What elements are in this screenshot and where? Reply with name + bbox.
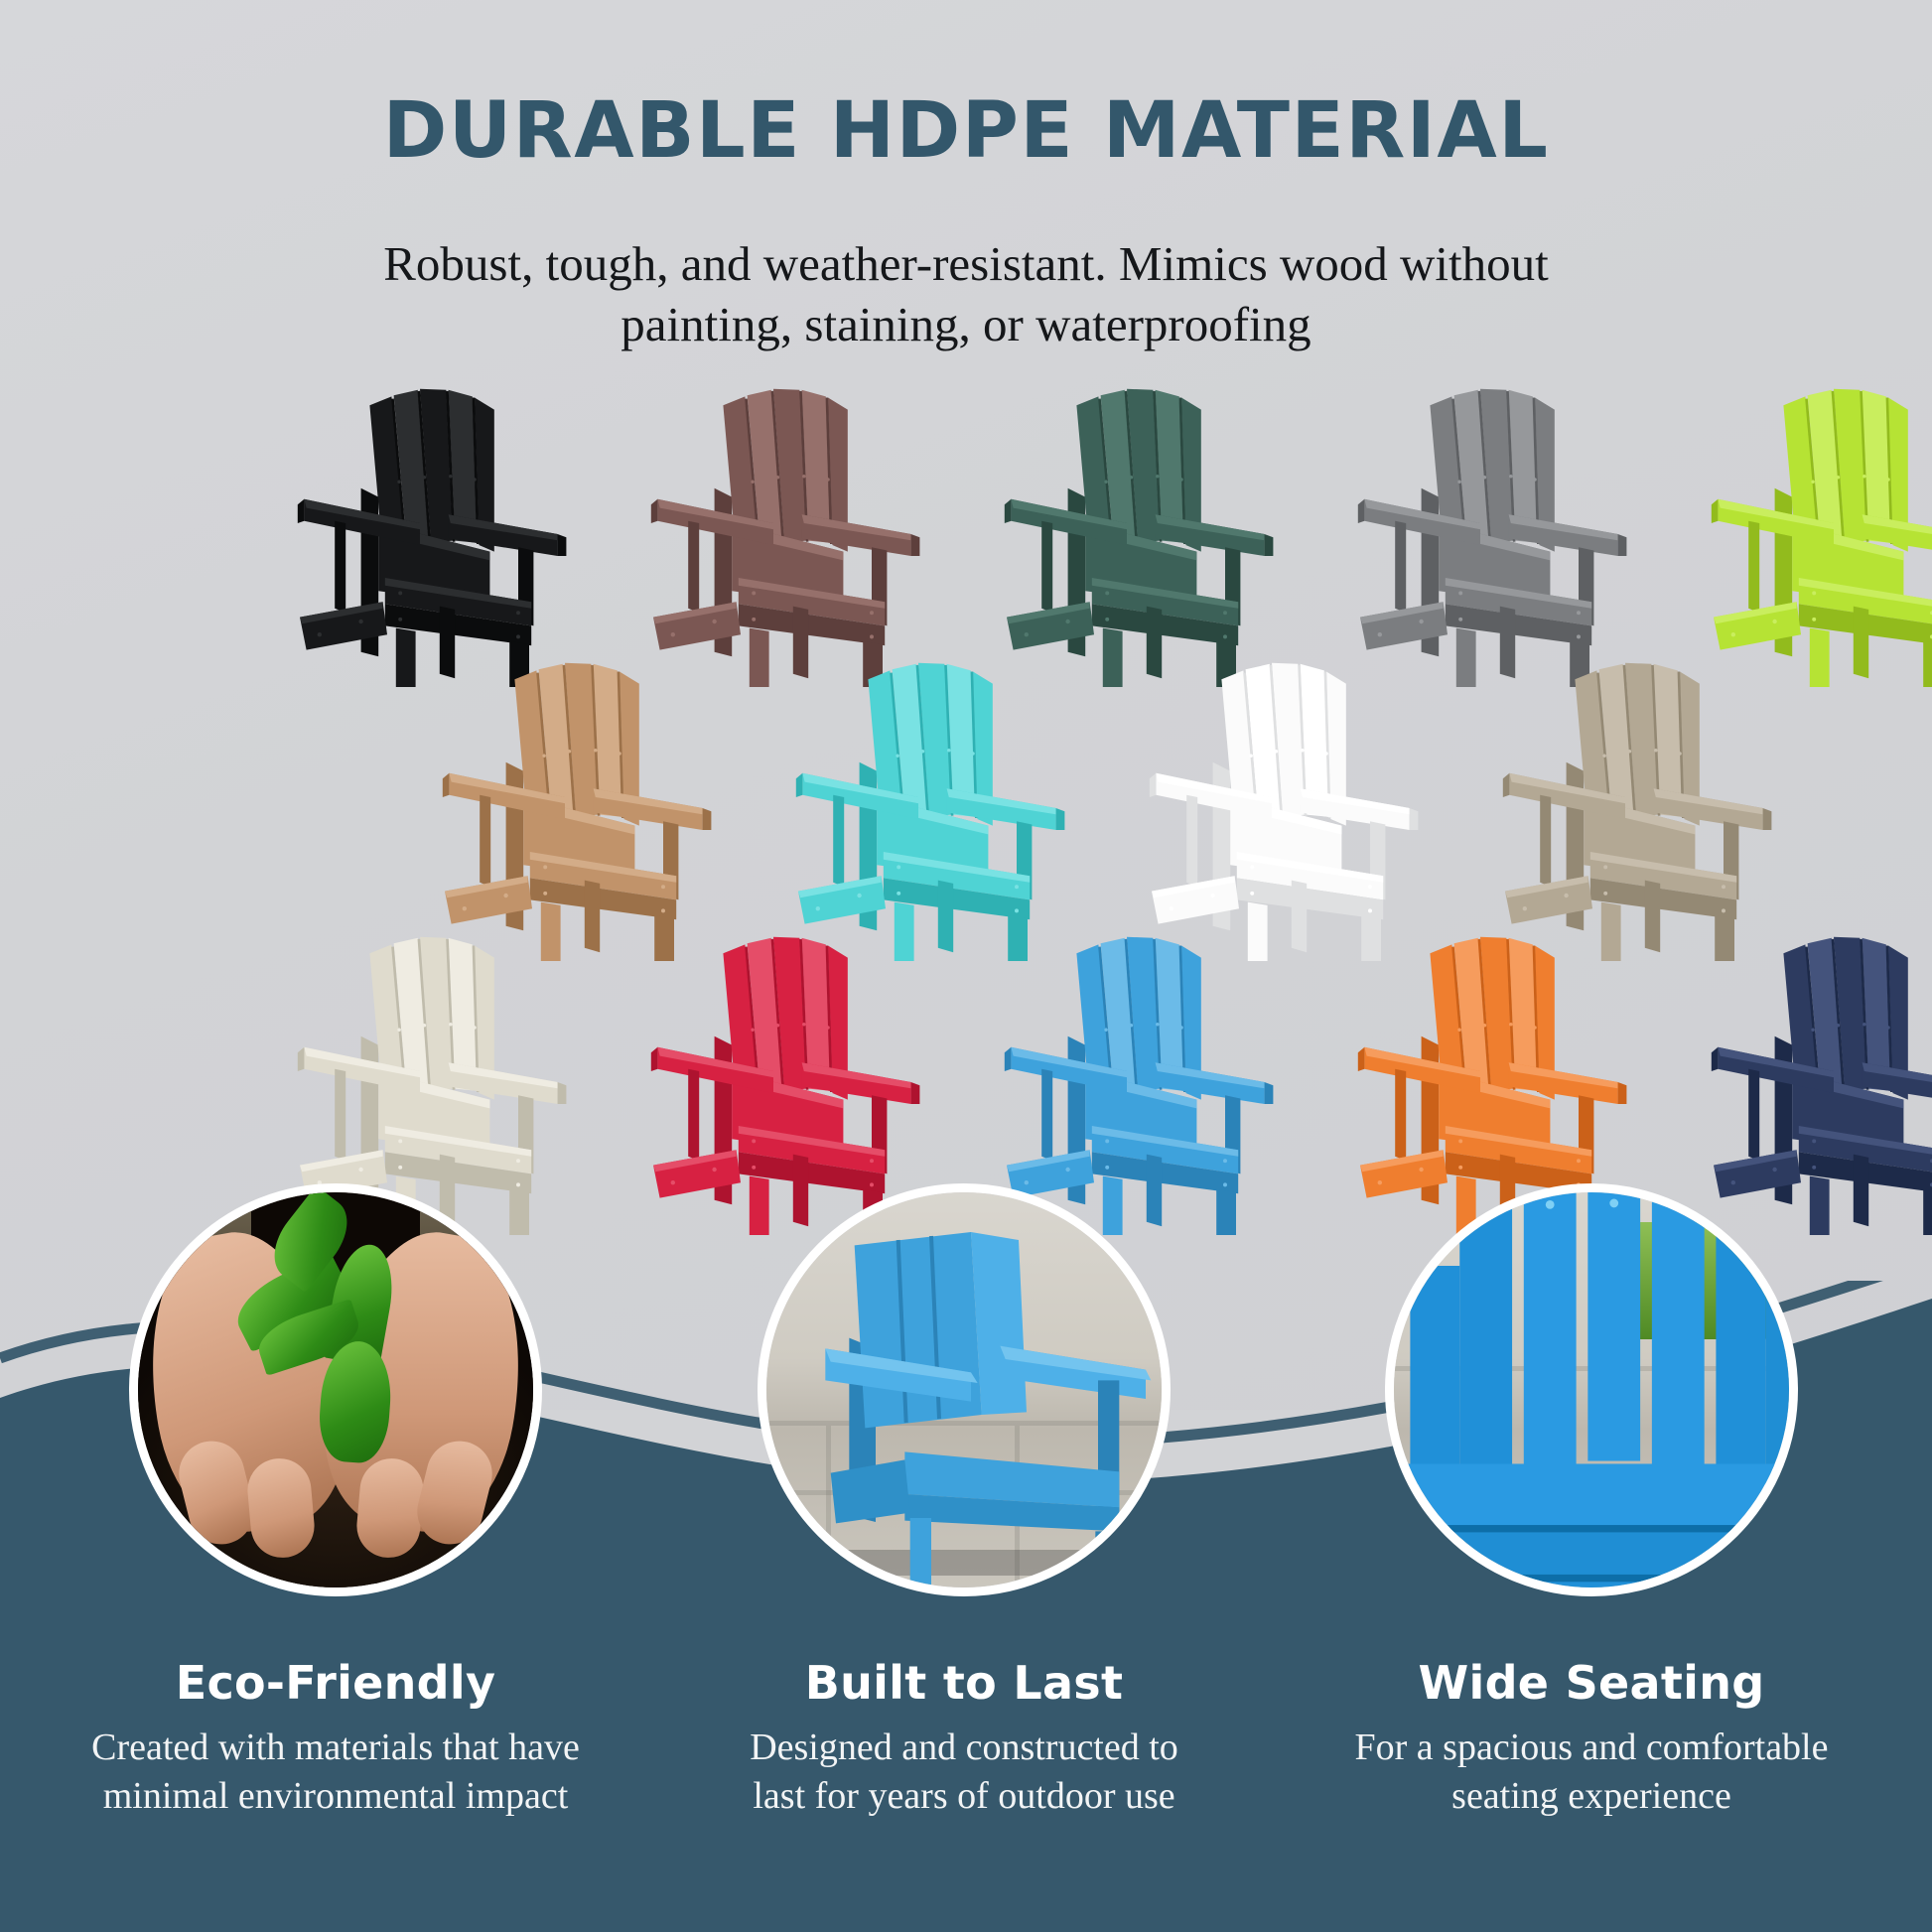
feature-heading-eco-friendly: Eco-Friendly [58,1656,614,1710]
features-section: Eco-Friendly Created with materials that… [0,0,1932,1932]
chair-photo-built-to-last [772,1200,1170,1596]
feature-image-built-to-last [758,1183,1171,1596]
feature-text-built-to-last: Built to Last Designed and constructed t… [686,1656,1242,1822]
feature-image-eco-friendly [129,1183,542,1596]
feature-body-wide-seating-line-2: seating experience [1313,1772,1869,1821]
feature-body-eco-friendly-line-1: Created with materials that have [58,1724,614,1772]
feature-image-wide-seating [1385,1183,1798,1596]
feature-heading-wide-seating: Wide Seating [1313,1656,1869,1710]
feature-body-built-to-last-line-1: Designed and constructed to [686,1724,1242,1772]
feature-body-built-to-last-line-2: last for years of outdoor use [686,1772,1242,1821]
chair-photo-wide-seating [1385,1183,1798,1596]
feature-text-eco-friendly: Eco-Friendly Created with materials that… [58,1656,614,1822]
infographic-canvas: DURABLE HDPE MATERIAL Robust, tough, and… [0,0,1932,1932]
feature-text-wide-seating: Wide Seating For a spacious and comforta… [1313,1656,1869,1822]
feature-body-eco-friendly-line-2: minimal environmental impact [58,1772,614,1821]
feature-heading-built-to-last: Built to Last [686,1656,1242,1710]
feature-body-wide-seating-line-1: For a spacious and comfortable [1313,1724,1869,1772]
